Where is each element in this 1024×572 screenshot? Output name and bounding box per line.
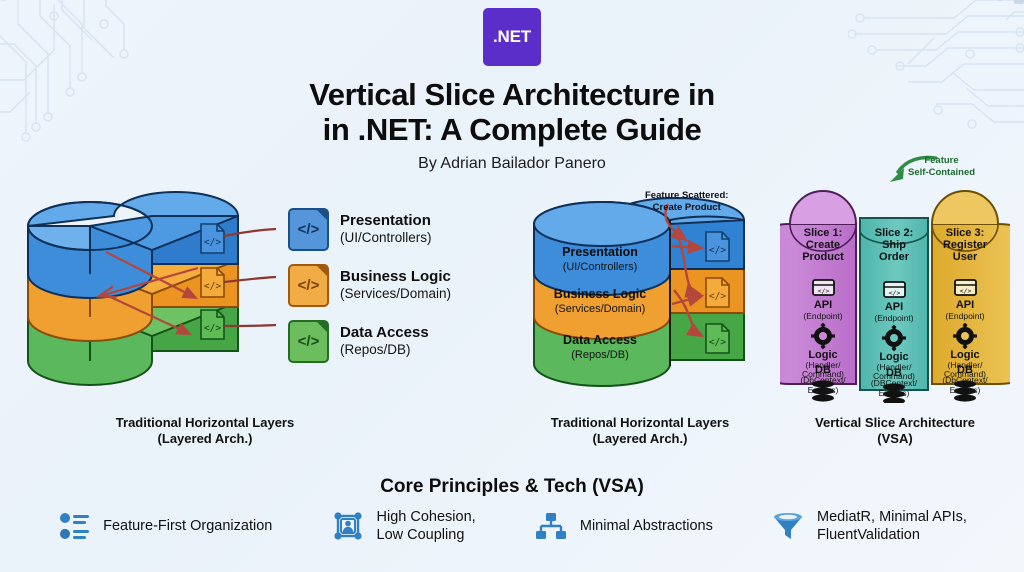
svg-text:</>: </> [709, 337, 726, 348]
hierarchy-icon [534, 509, 568, 543]
code-file-icon-presentation-face-2: </> [706, 232, 729, 261]
page-title: Vertical Slice Architecture in in .NET: … [0, 78, 1024, 147]
code-glyph: </> [298, 333, 320, 350]
page-title-line2: in .NET: A Complete Guide [0, 113, 1024, 148]
svg-text:(Services/Domain): (Services/Domain) [555, 303, 645, 315]
code-file-icon-presentation-face: </> [201, 224, 224, 253]
db-sub-slice-2: (DBContext/ Entities) [863, 379, 925, 399]
code-file-icon-business-face-2: </> [706, 278, 729, 307]
code-file-icon-data-face-2: </> [706, 324, 729, 353]
svg-text:Slice 3:: Slice 3: [946, 227, 985, 239]
svg-text:Create: Create [806, 239, 840, 251]
code-file-icon-presentation: </> [288, 208, 329, 251]
svg-text:(Endpoint): (Endpoint) [945, 311, 984, 321]
svg-text:Business Logic: Business Logic [554, 287, 646, 301]
svg-text:API: API [956, 299, 974, 311]
annotation-feature-self-contained: Feature Self-Contained [908, 155, 975, 178]
diagram-layered-architecture-scattered: Presentation (UI/Controllers) Business L… [520, 186, 770, 401]
svg-text:Ship: Ship [882, 239, 906, 251]
svg-text:</>: </> [204, 323, 221, 334]
svg-text:Order: Order [879, 251, 910, 263]
principle-feature-first: Feature-First Organization [57, 509, 272, 543]
vsa-slice-titles: Slice 1:CreateProduct Slice 2:ShipOrder … [802, 227, 988, 263]
principle-cohesion: High Cohesion, Low Coupling [331, 508, 476, 544]
principle-label-feature-first: Feature-First Organization [103, 517, 272, 535]
feature-list-icon [57, 509, 91, 543]
layer-labels-2: Presentation (UI/Controllers) Business L… [554, 245, 646, 361]
dotnet-logo-badge: .NET [483, 8, 541, 66]
principle-label-cohesion: High Cohesion, Low Coupling [377, 508, 476, 544]
legend-item-data-access: </> Data Access (Repos/DB) [288, 318, 498, 364]
core-principles-title: Core Principles & Tech (VSA) [0, 476, 1024, 498]
header: .NET Vertical Slice Architecture in in .… [0, 8, 1024, 173]
svg-text:(Repos/DB): (Repos/DB) [571, 349, 628, 361]
svg-text:Presentation: Presentation [562, 245, 638, 259]
caption-layered-cutaway: Traditional Horizontal Layers (Layered A… [70, 415, 340, 448]
svg-text:</>: </> [204, 281, 221, 292]
legend-sub-data-access: (Repos/DB) [340, 342, 429, 358]
page-title-line1: Vertical Slice Architecture in [0, 78, 1024, 113]
svg-text:</>: </> [204, 237, 221, 248]
annotation-feature-scattered: Feature Scattered: Create Product [645, 190, 728, 213]
principle-minimal-abstractions: Minimal Abstractions [534, 509, 713, 543]
svg-text:</>: </> [709, 245, 726, 256]
page-subtitle-author: By Adrian Bailador Panero [0, 155, 1024, 173]
svg-text:(Endpoint): (Endpoint) [874, 313, 913, 323]
legend-title-data-access: Data Access [340, 324, 429, 341]
svg-text:Data Access: Data Access [563, 333, 637, 347]
code-file-icon-data-face: </> [201, 310, 224, 339]
code-file-icon-business-face: </> [201, 268, 224, 297]
svg-text:User: User [953, 251, 978, 263]
code-glyph: </> [298, 277, 320, 294]
legend-title-presentation: Presentation [340, 212, 432, 229]
svg-text:</>: </> [818, 287, 830, 295]
principle-tech-stack: MediatR, Minimal APIs, FluentValidation [771, 508, 967, 544]
code-file-icon-data-access: </> [288, 320, 329, 363]
principle-label-tech-stack: MediatR, Minimal APIs, FluentValidation [817, 508, 967, 544]
diagram-layered-architecture-cutaway: </> </> </> [18, 186, 288, 401]
svg-text:</>: </> [960, 287, 972, 295]
svg-text:</>: </> [709, 291, 726, 302]
legend-title-business-logic: Business Logic [340, 268, 451, 285]
svg-text:API: API [885, 301, 903, 313]
svg-text:Slice 1:: Slice 1: [804, 227, 843, 239]
svg-text:</>: </> [889, 289, 901, 297]
legend-sub-presentation: (UI/Controllers) [340, 230, 432, 246]
svg-text:(Endpoint): (Endpoint) [803, 311, 842, 321]
svg-text:Product: Product [802, 251, 844, 263]
svg-text:(UI/Controllers): (UI/Controllers) [563, 261, 638, 273]
funnel-icon [771, 509, 805, 543]
db-sub-slice-3: (DbContext/ Entities) [934, 376, 996, 396]
legend-item-presentation: </> Presentation (UI/Controllers) [288, 206, 498, 252]
caption-layered-scattered: Traditional Horizontal Layers (Layered A… [505, 415, 775, 448]
svg-text:Slice 2:: Slice 2: [875, 227, 914, 239]
svg-text:API: API [814, 299, 832, 311]
legend-layers: </> Presentation (UI/Controllers) </> Bu… [288, 206, 498, 374]
principle-label-minimal-abstractions: Minimal Abstractions [580, 517, 713, 535]
db-sub-slice-1: (DbContext/ Entities) [792, 376, 854, 396]
code-file-icon-business-logic: </> [288, 264, 329, 307]
caption-vsa: Vertical Slice Architecture (VSA) [770, 415, 1020, 448]
legend-sub-business-logic: (Services/Domain) [340, 286, 451, 302]
code-glyph: </> [298, 221, 320, 238]
cohesion-node-icon [331, 509, 365, 543]
svg-text:Register: Register [943, 239, 988, 251]
principles-row: Feature-First Organization High Cohesion… [0, 508, 1024, 544]
legend-item-business-logic: </> Business Logic (Services/Domain) [288, 262, 498, 308]
